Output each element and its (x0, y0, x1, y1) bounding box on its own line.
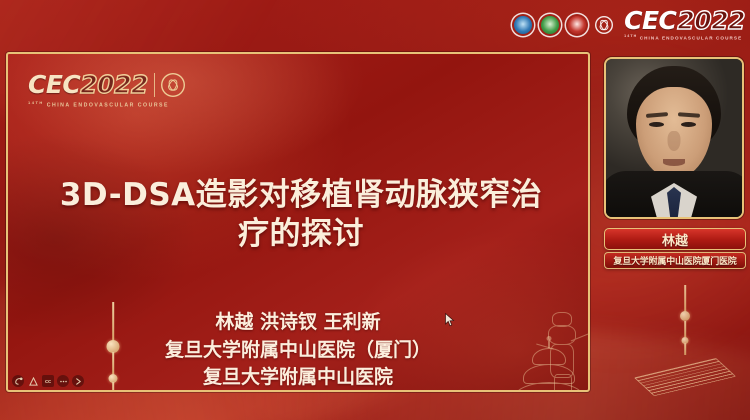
cec-flower-emblem-icon (161, 73, 185, 97)
society-logo-red-icon (566, 14, 588, 36)
presenter-nameplate: 林越 复旦大学附属中山医院厦门医院 (604, 228, 746, 269)
slide-title: 3D-DSA造影对移植肾动脉狭窄治疗的探讨 (56, 176, 546, 254)
presenter-toolbar[interactable]: cc (12, 375, 84, 387)
svg-text:cc: cc (45, 379, 51, 385)
video-frame (606, 59, 742, 217)
presenter-eye-right (681, 122, 696, 127)
more-options-icon[interactable] (57, 375, 69, 387)
slide-affiliation-2: 复旦大学附属中山医院 (48, 364, 548, 392)
slide-badge-year: 2022 (80, 70, 148, 99)
presenter-affiliation: 复旦大学附属中山医院厦门医院 (604, 252, 746, 269)
next-slide-icon[interactable] (72, 375, 84, 387)
slide-cec-badge: CEC2022 14TH CHINA ENDOVASCULAR COURSE (28, 72, 185, 109)
laser-pointer-icon[interactable] (12, 375, 24, 387)
society-logo-blue-icon (512, 14, 534, 36)
presenter-name: 林越 (604, 228, 746, 250)
slide-badge-prefix: CEC (28, 70, 80, 99)
slide-authors: 林越 洪诗钗 王利新 (48, 309, 548, 337)
presenter-video-feed[interactable] (604, 57, 744, 219)
app-stage: CEC2022 14TH CHINA ENDOVASCULAR COURSE (0, 0, 750, 420)
badge-divider (154, 73, 156, 97)
cec-brand-year: 2022 (677, 6, 745, 35)
presentation-slide[interactable]: CEC2022 14TH CHINA ENDOVASCULAR COURSE 3… (6, 52, 590, 392)
presenter-mouth (663, 159, 685, 166)
organizer-logo-row: CEC2022 14TH CHINA ENDOVASCULAR COURSE (512, 8, 745, 41)
slide-badge-subtitle: 14TH CHINA ENDOVASCULAR COURSE (28, 101, 185, 109)
slide-affiliation-1: 复旦大学附属中山医院（厦门） (48, 337, 548, 365)
presenter-nose (668, 131, 681, 151)
society-logo-green-icon (539, 14, 561, 36)
cec-brand-subtitle: 14TH CHINA ENDOVASCULAR COURSE (624, 35, 745, 41)
slide-author-block: 林越 洪诗钗 王利新 复旦大学附属中山医院（厦门） 复旦大学附属中山医院 (48, 309, 548, 392)
mouse-cursor (445, 313, 455, 327)
presenter-eye-left (649, 122, 664, 127)
top-bar: CEC2022 14TH CHINA ENDOVASCULAR COURSE (0, 0, 750, 48)
cec-flower-emblem-icon (593, 14, 615, 36)
cec-brand-prefix: CEC (624, 6, 676, 35)
oriental-pearl-tower-decoration-right (630, 285, 740, 390)
cec-brand-topbar: CEC2022 14TH CHINA ENDOVASCULAR COURSE (624, 8, 745, 41)
pen-icon[interactable] (27, 375, 39, 387)
closed-captions-icon[interactable]: cc (42, 375, 54, 387)
